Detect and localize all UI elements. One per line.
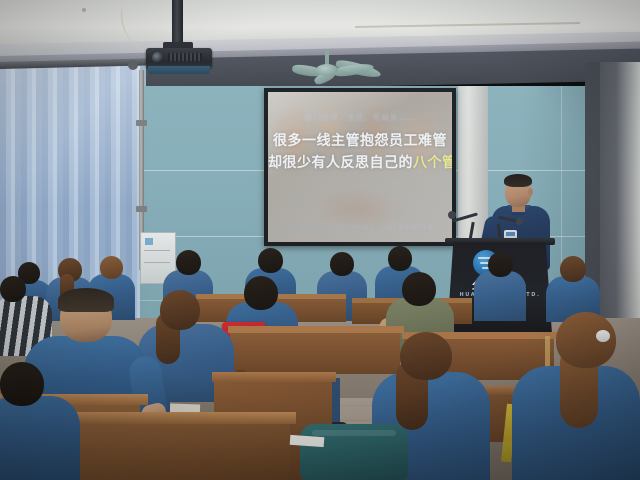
desk	[60, 420, 290, 480]
ceiling-fan-icon	[316, 64, 338, 76]
audience-head	[0, 362, 44, 406]
audience-head	[100, 256, 123, 279]
curtain-rod-finial	[128, 60, 138, 70]
projector-vent	[168, 53, 202, 61]
projector-base	[148, 66, 210, 74]
audience-body	[0, 396, 80, 480]
projection-screen: 部门经理、主任、班组长…… 很多一线主管抱怨员工难管 却很少有人反思自己的八个管…	[268, 92, 452, 242]
speaker-hair	[504, 174, 532, 187]
audience-head	[244, 276, 278, 310]
cabinet-shelf-line	[144, 250, 170, 251]
right-wall-return	[600, 62, 640, 326]
hair-tie-icon	[596, 330, 610, 342]
microphone-icon	[516, 218, 523, 225]
screen-glare	[268, 92, 452, 242]
bag-strap	[312, 430, 396, 436]
audience-head	[0, 276, 26, 302]
desk-top	[56, 412, 296, 424]
pipe-clamp	[136, 206, 147, 212]
desk-edge	[228, 326, 404, 333]
audience-head	[176, 250, 201, 275]
projector-mount-pole	[172, 0, 183, 46]
projector-lens-icon	[152, 52, 163, 63]
microphone-icon	[448, 211, 456, 219]
desk	[230, 330, 400, 374]
audience-head	[388, 246, 412, 271]
audience-head	[160, 290, 200, 330]
audience-head	[560, 256, 586, 282]
audience-head	[402, 272, 436, 306]
pipe-clamp	[136, 120, 147, 126]
desk-top	[212, 372, 336, 382]
audience-body	[474, 271, 526, 321]
audience-head	[330, 252, 354, 276]
speaker-ear	[528, 188, 533, 196]
foreground-audience-hair	[58, 288, 114, 312]
ceiling-spot	[82, 8, 86, 12]
speaker-badge-stripe	[506, 232, 515, 236]
audience-head	[258, 248, 283, 273]
audience-head	[488, 252, 513, 277]
cabinet-label-icon	[145, 238, 153, 245]
cabinet-shelf-line	[144, 262, 170, 263]
audience-head	[400, 332, 452, 380]
meeting-room-photo: 部门经理、主任、班组长…… 很多一线主管抱怨员工难管 却很少有人反思自己的八个管…	[0, 0, 640, 480]
